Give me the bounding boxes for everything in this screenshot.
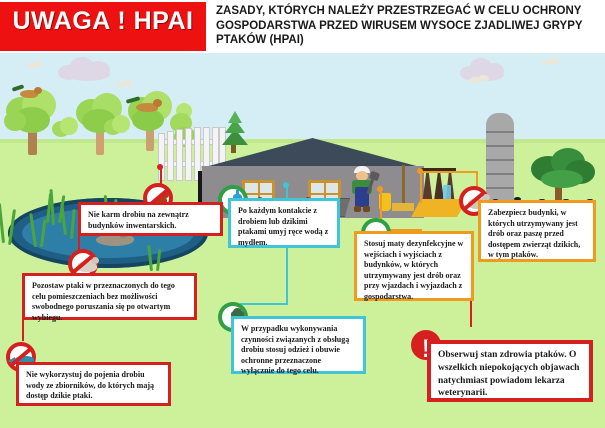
cloud-icon xyxy=(58,55,114,81)
bird-on-tree-icon xyxy=(126,98,166,114)
callout-no-outdoor-feeding[interactable]: Nie karm drobiu na zewnątrz budynków inw… xyxy=(78,202,223,236)
flying-bird-icon xyxy=(27,61,43,69)
flying-bird-icon xyxy=(541,58,559,66)
callout-no-reservoir-water[interactable]: Nie wykorzystuj do pojenia drobiu wody z… xyxy=(16,362,171,406)
bush-icon xyxy=(52,117,78,143)
callout-text: Zabezpiecz budynki, w których utrzymywan… xyxy=(481,203,593,266)
callout-wash-hands[interactable]: Po każdym kontakcie z drobiem lub dzikim… xyxy=(228,198,340,248)
callout-disinfection-mats[interactable]: Stosuj maty dezynfekcyjne w wejściach i … xyxy=(354,231,474,301)
callout-text: Po każdym kontakcie z drobiem lub dzikim… xyxy=(231,201,337,253)
callout-text: W przypadku wykonywania czynności związa… xyxy=(234,319,363,382)
hpai-poster: UWAGA ! HPAI ZASADY, KTÓRYCH NALEŻY PRZE… xyxy=(0,0,605,428)
poster-header: UWAGA ! HPAI ZASADY, KTÓRYCH NALEŻY PRZE… xyxy=(0,0,605,53)
page-title: ZASADY, KTÓRYCH NALEŻY PRZESTRZEGAĆ W CE… xyxy=(216,4,601,48)
barn-roof xyxy=(186,138,439,168)
callout-protective-clothing[interactable]: W przypadku wykonywania czynności związa… xyxy=(231,316,366,374)
bird-on-tree-icon xyxy=(12,86,46,100)
callout-observe-health[interactable]: Obserwuj stan zdrowia ptaków. O wszelkic… xyxy=(427,340,593,402)
callout-text: Pozostaw ptaki w przeznaczonych do tego … xyxy=(25,276,194,328)
callout-secure-buildings[interactable]: Zabezpiecz budynki, w których utrzymywan… xyxy=(478,200,596,262)
callout-keep-birds-indoors[interactable]: Pozostaw ptaki w przeznaczonych do tego … xyxy=(22,273,197,320)
grain-silo xyxy=(486,113,514,203)
alert-banner-label: UWAGA ! HPAI xyxy=(0,7,206,36)
flying-bird-icon xyxy=(116,80,132,88)
callout-text: Stosuj maty dezynfekcyjne w wejściach i … xyxy=(357,234,471,307)
callout-text: Obserwuj stan zdrowia ptaków. O wszelkic… xyxy=(431,344,589,405)
broom-bristles xyxy=(392,203,414,211)
farmer-figure xyxy=(352,166,372,212)
flying-bird-icon xyxy=(469,75,489,84)
callout-text: Nie wykorzystuj do pojenia drobiu wody z… xyxy=(19,365,168,407)
callout-text: Nie karm drobiu na zewnątrz budynków inw… xyxy=(81,205,220,236)
broom-handle xyxy=(402,165,405,205)
